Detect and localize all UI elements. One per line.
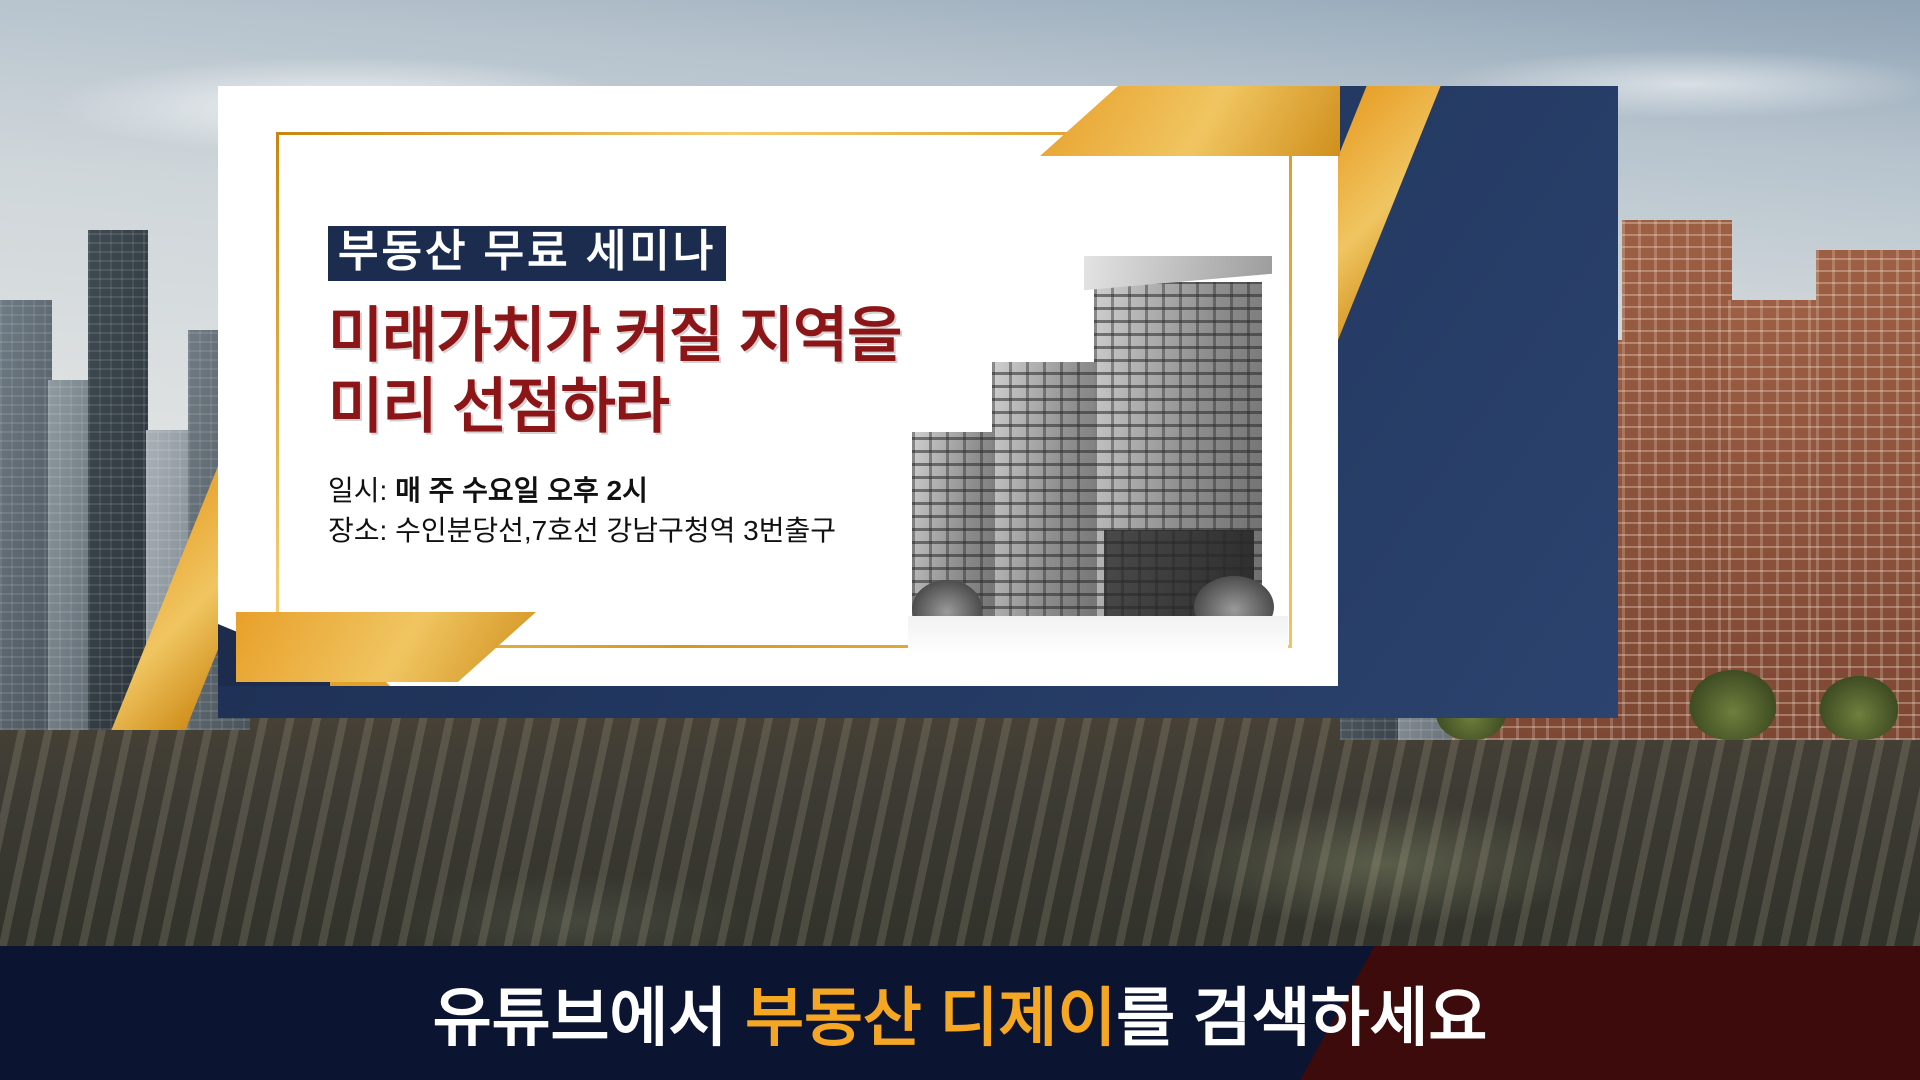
detail-value-datetime: 매 주 수요일 오후 2시 [395, 475, 648, 506]
headline: 미래가치가 커질 지역을 미리 선점하라 [328, 301, 1008, 443]
bottom-banner: 유튜브에서 부동산 디제이 를 검색하세요 [0, 946, 1920, 1080]
seminar-badge: 부동산 무료 세미나 [328, 226, 726, 281]
headline-line-1: 미래가치가 커질 지역을 [328, 301, 1008, 372]
detail-label-datetime: 일시: [328, 475, 387, 506]
detail-row-location: 장소: 수인분당선,7호선 강남구청역 3번출구 [328, 511, 1008, 552]
banner-text-part1: 유튜브에서 [433, 967, 727, 1059]
photo-foreground [908, 616, 1288, 656]
banner-text-highlight: 부동산 디제이 [745, 967, 1116, 1059]
seminar-card: 부동산 무료 세미나 미래가치가 커질 지역을 미리 선점하라 일시: 매 주 … [218, 86, 1338, 686]
headline-line-2: 미리 선점하라 [328, 372, 1008, 443]
banner-text-part3: 를 검색하세요 [1116, 967, 1487, 1059]
detail-row-datetime: 일시: 매 주 수요일 오후 2시 [328, 471, 1008, 512]
seminar-details: 일시: 매 주 수요일 오후 2시 장소: 수인분당선,7호선 강남구청역 3번… [328, 471, 1008, 552]
poster-stage: 부동산 무료 세미나 미래가치가 커질 지역을 미리 선점하라 일시: 매 주 … [0, 0, 1920, 1080]
detail-value-location: 수인분당선,7호선 강남구청역 3번출구 [395, 515, 836, 546]
card-content: 부동산 무료 세미나 미래가치가 커질 지역을 미리 선점하라 일시: 매 주 … [328, 226, 1008, 552]
banner-message: 유튜브에서 부동산 디제이 를 검색하세요 [0, 946, 1920, 1080]
detail-label-location: 장소: [328, 515, 387, 546]
